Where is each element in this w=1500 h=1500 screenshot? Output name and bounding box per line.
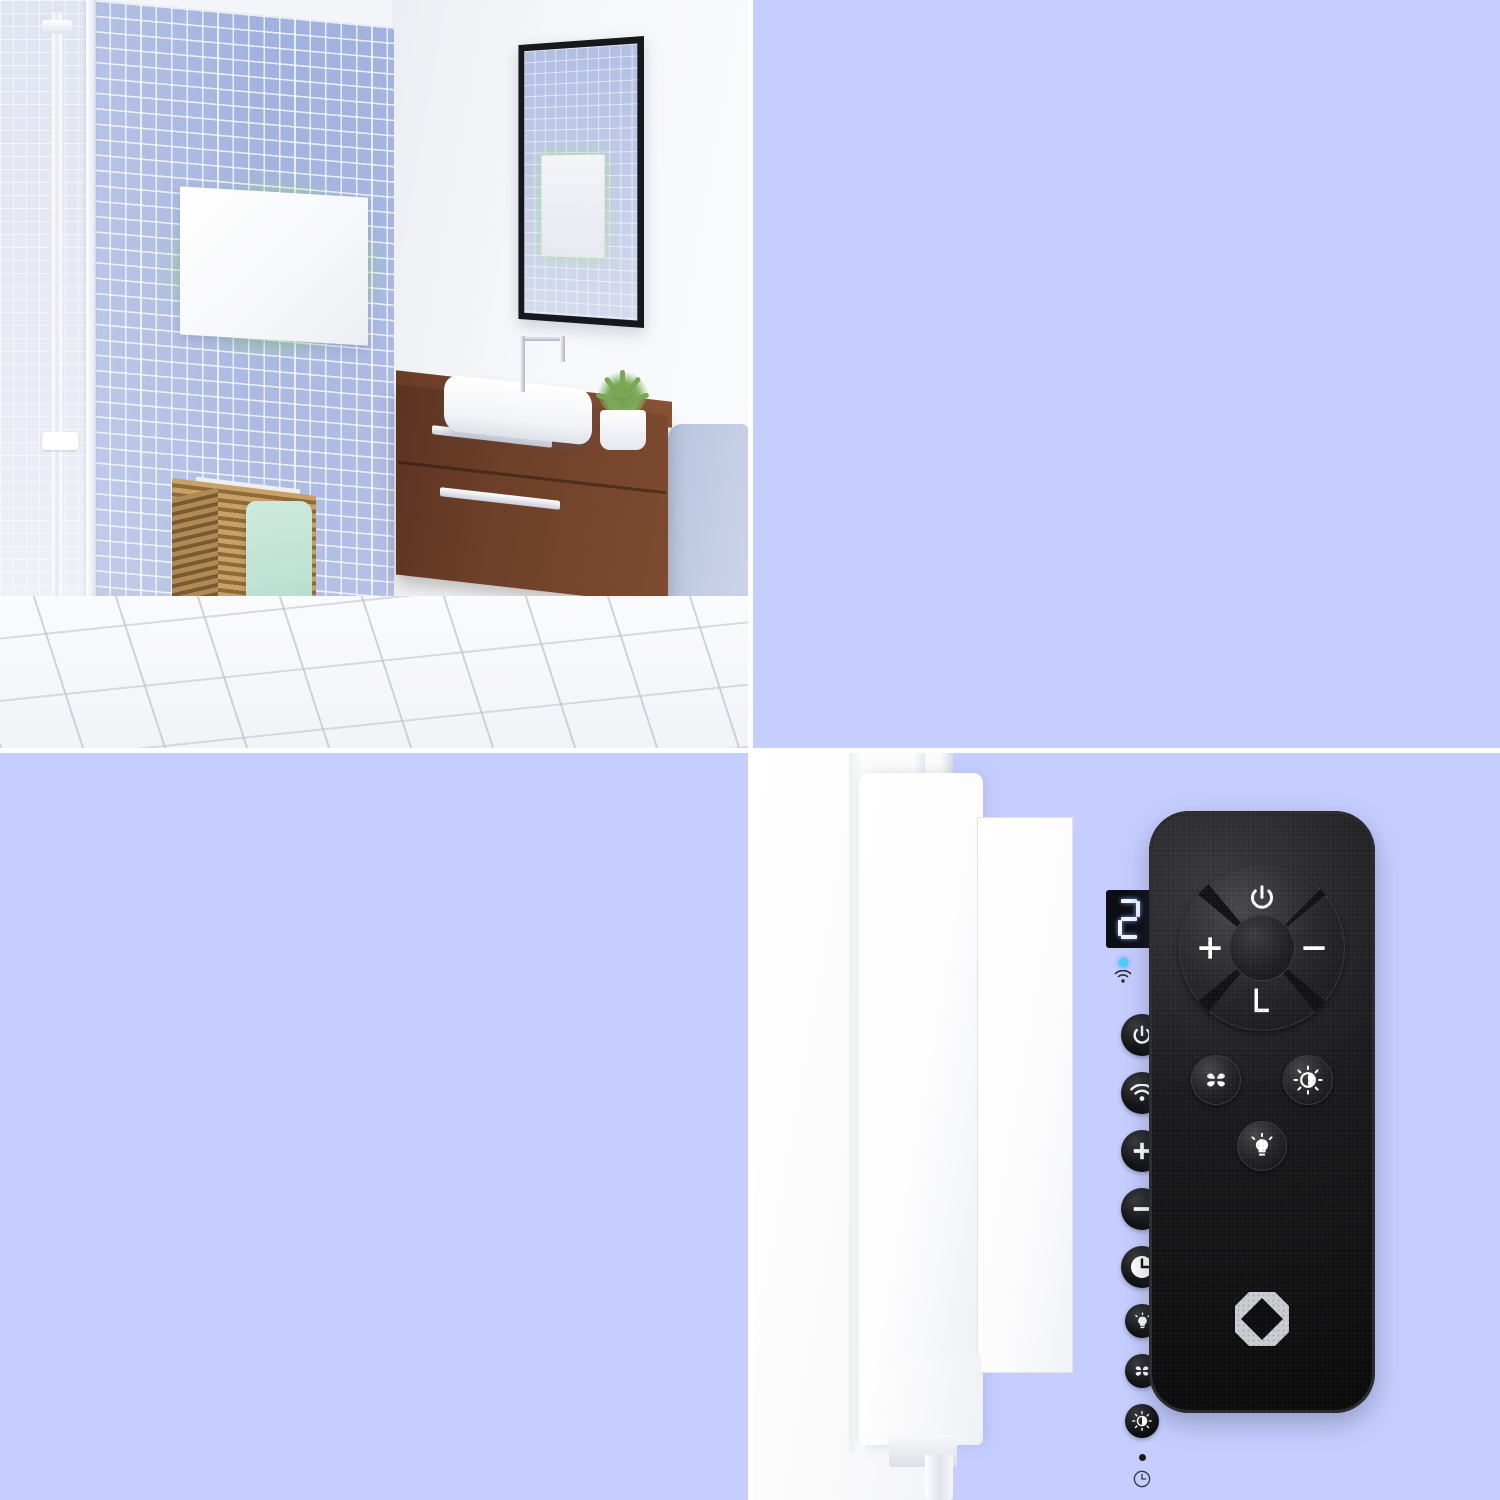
sun-half-icon bbox=[1132, 1411, 1152, 1431]
plant-pot bbox=[600, 410, 646, 450]
display-digit-tens bbox=[1118, 899, 1140, 939]
moisture-resistant-panel: MOISTURE RESISTANT IP class 44 - ideal f… bbox=[753, 0, 1500, 748]
product-feature-collage: MOISTURE RESISTANT IP class 44 - ideal f… bbox=[0, 0, 1500, 1500]
dpad-lock-button[interactable] bbox=[1232, 977, 1292, 1023]
octagon-brand-logo bbox=[1232, 1289, 1292, 1349]
wifi-led bbox=[1119, 958, 1128, 967]
shower-holder bbox=[42, 432, 78, 450]
dpad-decrease-button[interactable] bbox=[1291, 925, 1337, 971]
remote-fan-button[interactable] bbox=[1191, 1055, 1241, 1105]
bulb-icon bbox=[1248, 1132, 1276, 1160]
tiled-floor bbox=[0, 596, 748, 748]
heater-mount-pipe bbox=[925, 1455, 953, 1500]
infrared-heating-panel bbox=[180, 192, 368, 340]
shower-head bbox=[42, 20, 72, 34]
remote-heat-button[interactable] bbox=[1283, 1055, 1333, 1105]
heater-control-column bbox=[859, 773, 983, 1445]
wifi-indicator bbox=[1108, 958, 1138, 983]
plus-icon bbox=[1195, 933, 1225, 963]
wall-mirror bbox=[518, 36, 644, 328]
controls-photo-panel bbox=[753, 753, 1500, 1500]
bathroom-photo-panel bbox=[0, 0, 748, 748]
heat-button[interactable] bbox=[1125, 1404, 1159, 1438]
individually-adaptable-panel: INDIVIDUALLY ADAPTABLE Effective heating… bbox=[0, 753, 748, 1500]
power-icon bbox=[1247, 883, 1277, 913]
timer-status-icon bbox=[1132, 1469, 1152, 1489]
dpad-increase-button[interactable] bbox=[1187, 925, 1233, 971]
dpad-center-button[interactable] bbox=[1229, 915, 1295, 981]
remote-dpad[interactable] bbox=[1179, 865, 1345, 1031]
faucet-spout bbox=[560, 336, 565, 362]
heater-control-face bbox=[977, 817, 1073, 1373]
succulent-plant bbox=[598, 368, 648, 416]
indicator-dot bbox=[1139, 1454, 1146, 1461]
sun-half-icon bbox=[1293, 1065, 1323, 1095]
faucet-arm bbox=[520, 336, 564, 341]
remote-control[interactable] bbox=[1149, 811, 1375, 1413]
remote-bulb-button[interactable] bbox=[1237, 1121, 1287, 1171]
heater-bottom-cap bbox=[861, 1355, 981, 1443]
minus-icon bbox=[1299, 933, 1329, 963]
controls-scene bbox=[753, 753, 1500, 1500]
faucet-stem bbox=[520, 336, 525, 392]
wifi-icon bbox=[1114, 970, 1132, 983]
shower-glass-screen bbox=[0, 0, 96, 700]
l-letter-icon bbox=[1248, 985, 1276, 1015]
bathroom-scene bbox=[0, 0, 748, 748]
heating-panel-face bbox=[180, 186, 368, 345]
shower-rail bbox=[52, 12, 62, 662]
fan-icon bbox=[1202, 1066, 1230, 1094]
